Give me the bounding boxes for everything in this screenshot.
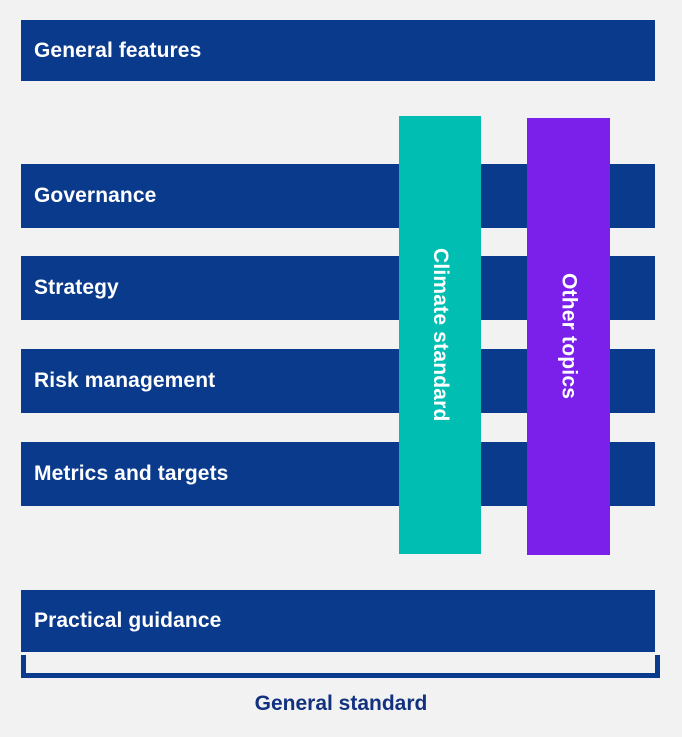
bar-strategy-label: Strategy — [21, 276, 119, 300]
bar-practical-guidance-label: Practical guidance — [21, 609, 221, 633]
column-climate-standard-label: Climate standard — [428, 248, 452, 422]
column-other-topics-label: Other topics — [557, 273, 581, 399]
bar-practical-guidance: Practical guidance — [21, 590, 655, 652]
general-standard-caption: General standard — [0, 692, 682, 716]
column-climate-standard: Climate standard — [399, 116, 481, 554]
bar-general-features-label: General features — [21, 39, 201, 63]
bar-risk-management-label: Risk management — [21, 369, 215, 393]
bar-general-features: General features — [21, 20, 655, 81]
general-standard-bracket — [21, 655, 660, 678]
standards-architecture-diagram: General features Governance Strategy Ris… — [0, 0, 682, 737]
bar-governance-label: Governance — [21, 184, 156, 208]
column-other-topics: Other topics — [527, 118, 610, 555]
bar-metrics-and-targets-label: Metrics and targets — [21, 462, 228, 486]
